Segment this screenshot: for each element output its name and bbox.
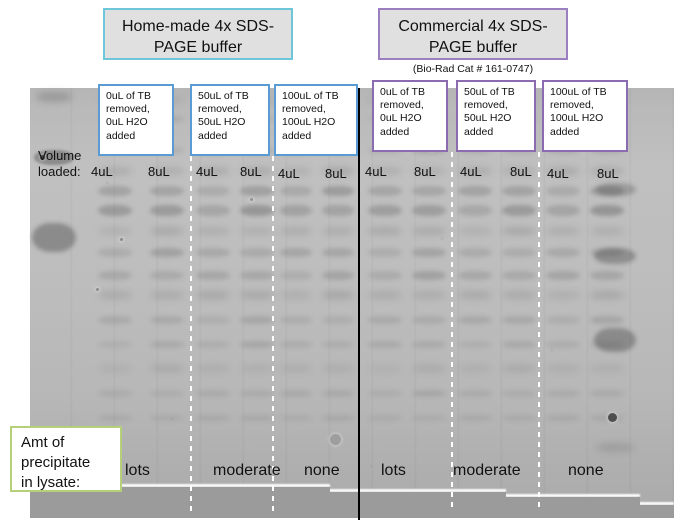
gel-band-lane5-row6 xyxy=(322,227,354,235)
gel-band-lane0-row5 xyxy=(98,205,132,216)
ladder-band-right-1 xyxy=(594,248,636,264)
gel-band-lane11-row4 xyxy=(590,186,624,196)
gel-band-lane7-row6 xyxy=(412,227,446,235)
gel-band-lane8-row5 xyxy=(458,205,492,216)
gel-artifact-speck-7 xyxy=(330,434,341,445)
gel-band-lane9-row10 xyxy=(502,316,536,324)
gel-band-lane11-row12 xyxy=(590,365,624,372)
gel-band-lane6-row7 xyxy=(368,248,402,257)
lane-volume-label-5: 8uL xyxy=(325,166,347,181)
gel-band-lane1-row11 xyxy=(150,341,184,348)
gel-band-lane11-row14 xyxy=(590,415,624,421)
lane-volume-label-11: 8uL xyxy=(597,166,619,181)
gel-band-lane0-row4 xyxy=(98,186,132,196)
gel-band-lane9-row11 xyxy=(502,341,536,348)
gel-bottom-edge xyxy=(30,476,674,518)
lane-volume-label-2: 4uL xyxy=(196,164,218,179)
precipitate-label-left-50: moderate xyxy=(213,462,281,480)
gel-band-lane10-row11 xyxy=(546,341,580,348)
gel-band-lane7-row10 xyxy=(412,316,446,324)
gel-band-lane11-row7 xyxy=(590,248,624,257)
gel-band-lane0-row11 xyxy=(98,341,132,348)
gel-band-lane11-row5 xyxy=(590,205,624,216)
gel-band-lane8-row13 xyxy=(458,390,492,397)
dashed-separator-0 xyxy=(190,156,192,512)
lane-volume-label-1: 8uL xyxy=(148,164,170,179)
gel-band-lane5-row7 xyxy=(322,248,354,257)
header-box-homemade: Home-made 4x SDS-PAGE buffer xyxy=(103,8,293,60)
lane-volume-label-0: 4uL xyxy=(91,164,113,179)
precipitate-label-right-100: none xyxy=(568,462,604,480)
gel-band-lane4-row4 xyxy=(280,186,312,196)
gel-band-lane8-row9 xyxy=(458,291,492,299)
gel-band-lane3-row4 xyxy=(240,186,274,196)
gel-band-lane1-row13 xyxy=(150,390,184,397)
gel-band-lane3-row14 xyxy=(240,415,274,421)
gel-band-lane10-row9 xyxy=(546,291,580,299)
gel-band-lane2-row14 xyxy=(196,415,230,421)
gel-band-lane9-row9 xyxy=(502,291,536,299)
gel-band-lane1-row4 xyxy=(150,186,184,196)
lane-volume-label-6: 4uL xyxy=(365,164,387,179)
gel-band-lane3-row10 xyxy=(240,316,274,324)
gel-band-lane2-row5 xyxy=(196,205,230,216)
gel-band-lane8-row8 xyxy=(458,271,492,280)
gel-band-lane4-row11 xyxy=(280,341,312,348)
gel-band-lane7-row8 xyxy=(412,271,446,280)
gel-band-lane11-row8 xyxy=(590,271,624,280)
gel-artifact-speck-2 xyxy=(96,288,99,291)
gel-band-lane0-row13 xyxy=(98,390,132,397)
gel-band-lane2-row10 xyxy=(196,316,230,324)
gel-band-lane5-row10 xyxy=(322,316,354,324)
gel-band-lane7-row13 xyxy=(412,390,446,397)
gel-band-lane9-row7 xyxy=(502,248,536,257)
gel-band-lane4-row12 xyxy=(280,365,312,372)
gel-band-lane4-row7 xyxy=(280,248,312,257)
gel-band-lane6-row5 xyxy=(368,205,402,216)
gel-band-lane10-row4 xyxy=(546,186,580,196)
gel-band-lane2-row7 xyxy=(196,248,230,257)
precipitate-label-right-50: moderate xyxy=(453,462,521,480)
precipitate-label-left-100: none xyxy=(304,462,340,480)
condition-box-right-50: 50uL of TB removed, 50uL H2O added xyxy=(456,80,536,152)
gel-band-lane8-row12 xyxy=(458,365,492,372)
gel-band-lane1-row5 xyxy=(150,205,184,216)
gel-band-lane5-row8 xyxy=(322,271,354,280)
gel-band-lane11-row11 xyxy=(590,341,624,348)
gel-band-lane7-row7 xyxy=(412,248,446,257)
gel-band-lane2-row4 xyxy=(196,186,230,196)
gel-band-lane0-row12 xyxy=(98,365,132,372)
gel-band-lane0-row9 xyxy=(98,291,132,299)
gel-band-lane8-row6 xyxy=(458,227,492,235)
gel-band-lane11-row10 xyxy=(590,316,624,324)
lane-volume-label-9: 8uL xyxy=(510,164,532,179)
gel-band-lane4-row13 xyxy=(280,390,312,397)
dashed-separator-3 xyxy=(538,152,540,512)
gel-band-lane4-row10 xyxy=(280,316,312,324)
gel-band-lane6-row8 xyxy=(368,271,402,280)
gel-band-lane8-row14 xyxy=(458,415,492,421)
lane-volume-label-8: 4uL xyxy=(460,164,482,179)
gel-band-lane7-row9 xyxy=(412,291,446,299)
gel-band-lane9-row14 xyxy=(502,415,536,421)
gel-band-lane3-row5 xyxy=(240,205,274,216)
condition-box-left-0: 0uL of TB removed, 0uL H2O added xyxy=(98,84,174,156)
gel-band-lane10-row7 xyxy=(546,248,580,257)
buffer-group-divider xyxy=(358,88,360,520)
dashed-separator-1 xyxy=(272,156,274,512)
precipitate-legend-box: Amt of precipitate in lysate: xyxy=(10,426,122,492)
header-box-commercial: Commercial 4x SDS-PAGE buffer xyxy=(378,8,568,60)
gel-band-lane10-row8 xyxy=(546,271,580,280)
gel-band-lane1-row9 xyxy=(150,291,184,299)
gel-band-lane3-row12 xyxy=(240,365,274,372)
gel-band-lane6-row12 xyxy=(368,365,402,372)
gel-band-lane10-row13 xyxy=(546,390,580,397)
gel-band-lane9-row12 xyxy=(502,365,536,372)
condition-box-left-50: 50uL of TB removed, 50uL H2O added xyxy=(190,84,270,156)
gel-band-lane4-row5 xyxy=(280,205,312,216)
gel-band-lane9-row4 xyxy=(502,186,536,196)
gel-band-lane3-row8 xyxy=(240,271,274,280)
gel-band-lane10-row10 xyxy=(546,316,580,324)
gel-band-lane3-row6 xyxy=(240,227,274,235)
gel-band-lane2-row11 xyxy=(196,341,230,348)
gel-band-lane2-row9 xyxy=(196,291,230,299)
gel-band-lane1-row8 xyxy=(150,271,184,280)
gel-band-lane4-row6 xyxy=(280,227,312,235)
gel-band-lane1-row6 xyxy=(150,227,184,235)
condition-box-right-0: 0uL of TB removed, 0uL H2O added xyxy=(372,80,448,152)
gel-band-lane3-row13 xyxy=(240,390,274,397)
gel-band-lane8-row11 xyxy=(458,341,492,348)
gel-band-lane2-row12 xyxy=(196,365,230,372)
lane-volume-label-7: 8uL xyxy=(414,164,436,179)
gel-band-lane10-row12 xyxy=(546,365,580,372)
gel-band-lane10-row5 xyxy=(546,205,580,216)
gel-band-lane0-row14 xyxy=(98,415,132,421)
gel-band-lane8-row10 xyxy=(458,316,492,324)
gel-band-lane0-row8 xyxy=(98,271,132,280)
gel-band-lane9-row8 xyxy=(502,271,536,280)
gel-band-lane9-row6 xyxy=(502,227,536,235)
gel-band-lane5-row11 xyxy=(322,341,354,348)
gel-band-lane5-row5 xyxy=(322,205,354,216)
gel-band-lane11-row6 xyxy=(590,227,624,235)
gel-band-lane0-row10 xyxy=(98,316,132,324)
gel-band-lane0-row7 xyxy=(98,248,132,257)
gel-band-lane6-row13 xyxy=(368,390,402,397)
condition-box-left-100: 100uL of TB removed, 100uL H2O added xyxy=(274,84,358,156)
gel-band-lane6-row9 xyxy=(368,291,402,299)
gel-band-lane4-row14 xyxy=(280,415,312,421)
gel-band-lane9-row13 xyxy=(502,390,536,397)
gel-band-lane7-row12 xyxy=(412,365,446,372)
gel-band-lane4-row8 xyxy=(280,271,312,280)
gel-band-lane1-row10 xyxy=(150,316,184,324)
gel-band-lane1-row12 xyxy=(150,365,184,372)
precipitate-label-left-0: lots xyxy=(125,462,150,480)
gel-band-lane6-row11 xyxy=(368,341,402,348)
lane-volume-label-3: 8uL xyxy=(240,164,262,179)
gel-band-lane5-row4 xyxy=(322,186,354,196)
gel-band-lane1-row7 xyxy=(150,248,184,257)
gel-band-lane7-row14 xyxy=(412,415,446,421)
gel-band-lane0-row6 xyxy=(98,227,132,235)
gel-band-lane7-row5 xyxy=(412,205,446,216)
gel-band-lane3-row7 xyxy=(240,248,274,257)
gel-band-lane7-row11 xyxy=(412,341,446,348)
gel-band-lane3-row11 xyxy=(240,341,274,348)
gel-band-lane2-row13 xyxy=(196,390,230,397)
lane-volume-label-4: 4uL xyxy=(278,166,300,181)
gel-band-lane4-row9 xyxy=(280,291,312,299)
gel-figure: Home-made 4x SDS-PAGE buffer Commercial … xyxy=(0,0,674,530)
gel-band-lane5-row9 xyxy=(322,291,354,299)
ladder-band-right-0 xyxy=(596,183,636,196)
gel-band-lane11-row13 xyxy=(590,390,624,397)
gel-band-lane5-row13 xyxy=(322,390,354,397)
gel-band-lane10-row6 xyxy=(546,227,580,235)
precipitate-label-right-0: lots xyxy=(381,462,406,480)
gel-band-lane8-row7 xyxy=(458,248,492,257)
gel-artifact-speck-1 xyxy=(120,238,123,241)
gel-artifact-speck-3 xyxy=(250,198,253,201)
header-subtext-catalog: (Bio-Rad Cat # 161-0747) xyxy=(378,63,568,76)
gel-band-lane3-row9 xyxy=(240,291,274,299)
gel-band-lane5-row14 xyxy=(322,415,354,421)
gel-band-lane6-row4 xyxy=(368,186,402,196)
gel-band-lane5-row12 xyxy=(322,365,354,372)
gel-band-lane6-row6 xyxy=(368,227,402,235)
dashed-separator-2 xyxy=(451,152,453,512)
gel-band-lane8-row4 xyxy=(458,186,492,196)
gel-band-lane6-row10 xyxy=(368,316,402,324)
ladder-band-left-2 xyxy=(32,223,76,252)
gel-band-lane6-row14 xyxy=(368,415,402,421)
gel-band-lane9-row5 xyxy=(502,205,536,216)
gel-band-lane1-row14 xyxy=(150,415,184,421)
gel-band-lane2-row8 xyxy=(196,271,230,280)
volume-loaded-label: Volume loaded: xyxy=(38,148,98,180)
gel-band-lane7-row4 xyxy=(412,186,446,196)
gel-band-lane10-row14 xyxy=(546,415,580,421)
gel-artifact-speck-6 xyxy=(608,413,617,422)
ladder-band-right-3 xyxy=(596,443,634,452)
lane-volume-label-10: 4uL xyxy=(547,166,569,181)
condition-box-right-100: 100uL of TB removed, 100uL H2O added xyxy=(542,80,628,152)
ladder-band-left-0 xyxy=(36,92,72,102)
gel-band-lane2-row6 xyxy=(196,227,230,235)
ladder-band-right-2 xyxy=(594,328,636,352)
gel-band-lane11-row9 xyxy=(590,291,624,299)
